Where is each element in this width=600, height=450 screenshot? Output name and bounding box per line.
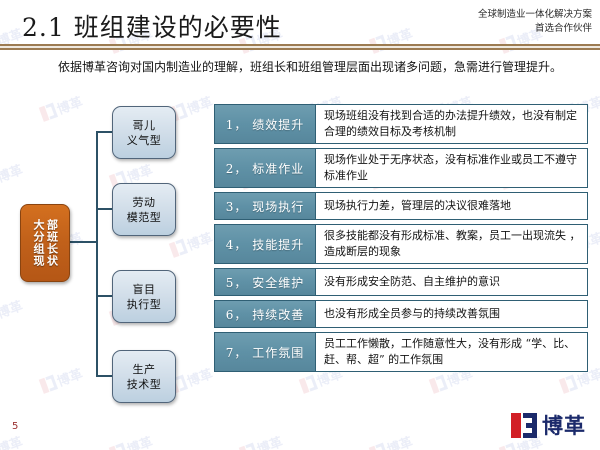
- page-title: 2.1 班组建设的必要性: [22, 8, 282, 44]
- issue-label-cell: 1， 绩效提升: [214, 104, 316, 144]
- table-row[interactable]: 3， 现场执行现场执行力差，管理层的决议很难落地: [214, 192, 588, 220]
- table-row[interactable]: 4， 技能提升很多技能都没有形成标准、教案，员工一出现流失 ，造成断层的现象: [214, 224, 588, 264]
- watermark-logo-icon: [429, 375, 448, 394]
- brand-logo: 博革: [511, 413, 586, 438]
- watermark: 博革: [108, 431, 155, 450]
- watermark-text: 博革: [0, 431, 25, 450]
- watermark: 博革: [0, 431, 25, 450]
- watermark: 博革: [238, 431, 285, 450]
- issue-description-cell: 也没有形成全员参与的持续改善氛围: [316, 300, 588, 328]
- issue-description-cell: 现场作业处于无序状态，没有标准作业或员工不遵守标准作业: [316, 148, 588, 188]
- tagline-line-2: 首选合作伙伴: [478, 22, 592, 36]
- diagram-root-node[interactable]: 部班长状 大分组现: [20, 204, 70, 282]
- watermark-logo-icon: [559, 375, 578, 394]
- watermark-logo-icon: [109, 443, 128, 450]
- issue-label-cell: 7， 工作氛围: [214, 332, 316, 372]
- watermark-logo-icon: [239, 443, 258, 450]
- diagram-branch-node-1[interactable]: 哥儿义气型: [112, 106, 176, 159]
- issue-label-cell: 3， 现场执行: [214, 192, 316, 220]
- issue-label-cell: 2， 标准作业: [214, 148, 316, 188]
- root-node-column-left: 大分组现: [32, 219, 46, 267]
- watermark-logo-icon: [499, 443, 518, 450]
- table-row[interactable]: 7， 工作氛围员工工作懒散，工作随意性大，没有形成 “学、比、赶、帮、超” 的工…: [214, 332, 588, 372]
- table-row[interactable]: 1， 绩效提升现场班组没有找到合适的办法提升绩效，也没有制定合理的绩效目标及考核…: [214, 104, 588, 144]
- table-row[interactable]: 6， 持续改善也没有形成全员参与的持续改善氛围: [214, 300, 588, 328]
- issue-label-cell: 5， 安全维护: [214, 268, 316, 296]
- diagram-branch-node-4[interactable]: 生产技术型: [112, 350, 176, 403]
- watermark-text: 博革: [384, 431, 415, 450]
- issue-description-cell: 现场班组没有找到合适的办法提升绩效，也没有制定合理的绩效目标及考核机制: [316, 104, 588, 144]
- branch-node-4-label: 生产技术型: [127, 362, 162, 392]
- table-row[interactable]: 2， 标准作业现场作业处于无序状态，没有标准作业或员工不遵守标准作业: [214, 148, 588, 188]
- issue-description-cell: 很多技能都没有形成标准、教案，员工一出现流失 ，造成断层的现象: [316, 224, 588, 264]
- connector-branch-2: [96, 208, 112, 210]
- issue-description-cell: 没有形成安全防范、自主维护的意识: [316, 268, 588, 296]
- company-tagline: 全球制造业一体化解决方案 首选合作伙伴: [478, 8, 592, 36]
- watermark: 博革: [368, 431, 415, 450]
- watermark-logo-icon: [299, 375, 318, 394]
- watermark-text: 博革: [254, 431, 285, 450]
- logo-mark-blue-tick: [526, 423, 533, 428]
- diagram-branch-node-3[interactable]: 盲目执行型: [112, 270, 176, 323]
- branch-node-1-label: 哥儿义气型: [127, 118, 162, 148]
- connector-branch-3: [96, 295, 112, 297]
- logo-mark-red-bar: [511, 413, 521, 438]
- issue-table: 1， 绩效提升现场班组没有找到合适的办法提升绩效，也没有制定合理的绩效目标及考核…: [214, 104, 588, 376]
- issue-description-cell: 员工工作懒散，工作随意性大，没有形成 “学、比、赶、帮、超” 的工作氛围: [316, 332, 588, 372]
- tagline-line-1: 全球制造业一体化解决方案: [478, 8, 592, 22]
- divider-line-bottom: [0, 48, 600, 50]
- issue-description-cell: 现场执行力差，管理层的决议很难落地: [316, 192, 588, 220]
- brand-logo-text: 博革: [542, 414, 586, 438]
- issue-label-cell: 4， 技能提升: [214, 224, 316, 264]
- watermark-text: 博革: [124, 431, 155, 450]
- intro-paragraph: 依据博革咨询对国内制造业的理解，班组长和班组管理层面出现诸多问题，急需进行管理提…: [34, 58, 574, 77]
- issue-label-cell: 6， 持续改善: [214, 300, 316, 328]
- root-node-column-right: 部班长状: [45, 219, 59, 267]
- org-diagram: 部班长状 大分组现 哥儿义气型 劳动模范型 盲目执行型 生产技术型: [0, 100, 210, 405]
- title-divider: [0, 44, 600, 51]
- connector-trunk-horizontal: [70, 241, 98, 243]
- connector-branch-4: [96, 375, 112, 377]
- branch-node-3-label: 盲目执行型: [127, 282, 162, 312]
- watermark-logo-icon: [369, 443, 388, 450]
- branch-node-2-label: 劳动模范型: [127, 195, 162, 225]
- table-row[interactable]: 5， 安全维护没有形成安全防范、自主维护的意识: [214, 268, 588, 296]
- slide-header: 2.1 班组建设的必要性 全球制造业一体化解决方案 首选合作伙伴: [0, 0, 600, 56]
- connector-branch-1: [96, 131, 112, 133]
- connector-trunk-vertical: [96, 131, 98, 377]
- brand-logo-icon: [511, 413, 537, 438]
- page-number: 5: [12, 421, 18, 432]
- diagram-branch-node-2[interactable]: 劳动模范型: [112, 183, 176, 236]
